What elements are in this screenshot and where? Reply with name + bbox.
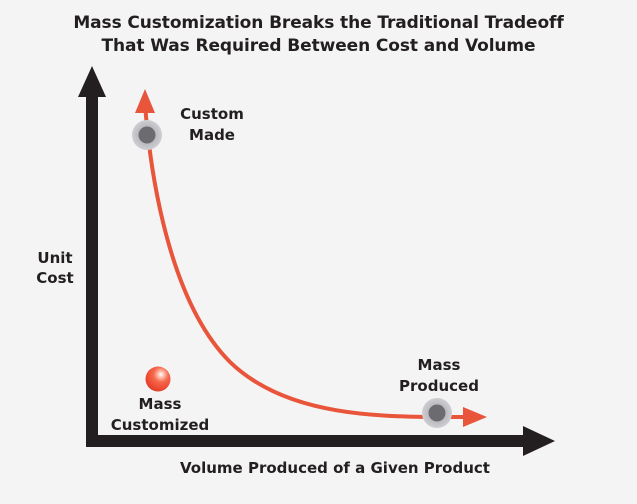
y-axis-label-line-1: Unit	[24, 248, 86, 268]
mass-produced-line-2: Produced	[382, 376, 496, 397]
diagram-canvas: Mass Customization Breaks the Traditiona…	[0, 0, 637, 504]
point-label-mass-produced: Mass Produced	[382, 355, 496, 397]
curve-up-arrow-icon	[135, 89, 155, 113]
point-marker-mass-customized[interactable]	[146, 367, 171, 392]
custom-made-line-1: Custom	[160, 104, 264, 125]
point-label-custom-made: Custom Made	[160, 104, 264, 146]
y-axis-label: Unit Cost	[24, 248, 86, 288]
mass-produced-line-1: Mass	[382, 355, 496, 376]
tradeoff-chart	[0, 0, 637, 504]
custom-made-line-2: Made	[160, 125, 264, 146]
curve-right-arrow-icon	[463, 407, 487, 427]
point-marker-mass-produced[interactable]	[422, 398, 452, 428]
right-arrow-icon	[523, 426, 555, 456]
y-axis-label-line-2: Cost	[24, 268, 86, 288]
mass-customized-line-1: Mass	[97, 394, 223, 415]
point-marker-custom-made[interactable]	[132, 120, 162, 150]
up-arrow-icon	[78, 66, 106, 97]
mass-customized-line-2: Customized	[97, 415, 223, 436]
point-label-mass-customized: Mass Customized	[97, 394, 223, 436]
x-axis-label: Volume Produced of a Given Product	[90, 458, 580, 478]
